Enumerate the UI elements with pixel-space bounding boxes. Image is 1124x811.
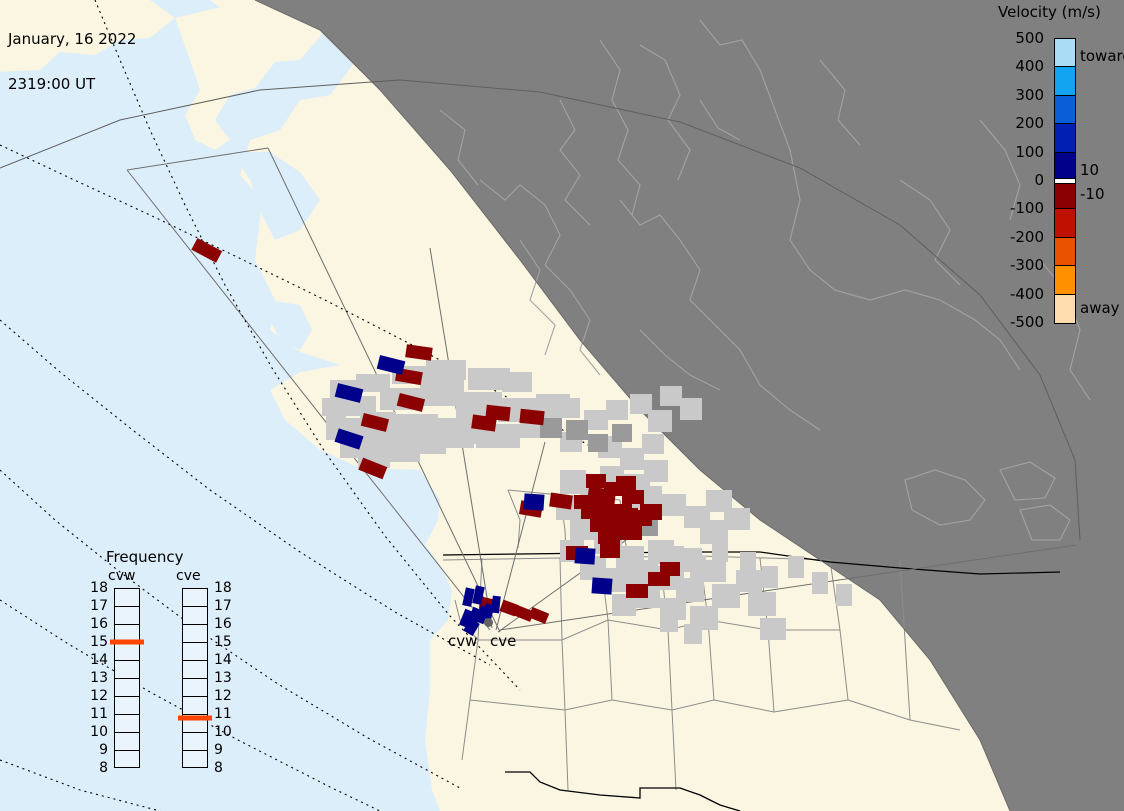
velocity-tick-label: 400 [1015, 57, 1044, 75]
frequency-bar-segment [183, 733, 207, 751]
frequency-bar-segment [183, 697, 207, 715]
frequency-scale-label: 15 [86, 634, 108, 650]
velocity-colorbar-segment [1055, 124, 1075, 152]
frequency-scale-label: 13 [214, 670, 232, 686]
frequency-marker-cve [178, 715, 212, 720]
frequency-bar-segment [115, 715, 139, 733]
frequency-column-label-cve: cve [176, 568, 201, 584]
velocity-negative-threshold-label: -10 [1080, 185, 1105, 203]
velocity-tick-label: -400 [1010, 285, 1044, 303]
velocity-tick-label: -200 [1010, 228, 1044, 246]
frequency-scale-label: 14 [214, 652, 232, 668]
velocity-tick-label: -100 [1010, 199, 1044, 217]
velocity-away-label: away [1080, 299, 1120, 317]
frequency-bar-segment [115, 679, 139, 697]
frequency-bar-cvw[interactable] [114, 588, 140, 768]
frequency-bar-segment [115, 589, 139, 607]
frequency-bar-segment [115, 697, 139, 715]
frequency-scale-label: 12 [214, 688, 232, 704]
frequency-scale-label: 13 [86, 670, 108, 686]
frequency-bar-segment [115, 733, 139, 751]
velocity-tick-label: 500 [1015, 29, 1044, 47]
frequency-bar-segment [115, 607, 139, 625]
site-label-cvw: cvw [448, 632, 477, 650]
frequency-scale-label: 11 [214, 706, 232, 722]
velocity-tick-label: 200 [1015, 114, 1044, 132]
frequency-bar-segment [183, 589, 207, 607]
frequency-legend-title: Frequency [106, 548, 184, 566]
velocity-tick-label: 300 [1015, 86, 1044, 104]
frequency-bar-segment [115, 751, 139, 769]
velocity-colorbar-segment [1055, 295, 1075, 323]
velocity-tick-label: -300 [1010, 256, 1044, 274]
frequency-scale-label: 8 [214, 760, 223, 776]
velocity-toward-label: toward [1080, 47, 1124, 65]
frequency-scale-label: 16 [214, 616, 232, 632]
velocity-legend-title: Velocity (m/s) [998, 3, 1101, 21]
timestamp-date: January, 16 2022 [8, 32, 136, 47]
velocity-tick-label: 0 [1034, 171, 1044, 189]
frequency-scale-label: 11 [86, 706, 108, 722]
frequency-scale-label: 8 [86, 760, 108, 776]
frequency-scale-label: 9 [86, 742, 108, 758]
frequency-scale-label: 16 [86, 616, 108, 632]
frequency-bar-segment [183, 679, 207, 697]
frequency-scale-label: 17 [214, 598, 232, 614]
velocity-colorbar-segment [1055, 209, 1075, 237]
frequency-scale-label: 10 [214, 724, 232, 740]
frequency-bar-segment [183, 643, 207, 661]
frequency-bar-segment [183, 751, 207, 769]
frequency-bar-segment [115, 643, 139, 661]
site-label-cve: cve [490, 632, 516, 650]
velocity-colorbar-segment [1055, 67, 1075, 95]
frequency-scale-label: 14 [86, 652, 108, 668]
velocity-zero-band [1055, 178, 1075, 184]
velocity-tick-label: 100 [1015, 143, 1044, 161]
timestamp-block: January, 16 2022 2319:00 UT [8, 2, 136, 122]
frequency-bar-segment [183, 607, 207, 625]
frequency-scale-label: 10 [86, 724, 108, 740]
frequency-bar-segment [183, 625, 207, 643]
frequency-scale-label: 9 [214, 742, 223, 758]
frequency-scale-label: 18 [214, 580, 232, 596]
velocity-colorbar-segment [1055, 96, 1075, 124]
velocity-positive-threshold-label: 10 [1080, 161, 1099, 179]
frequency-marker-cvw [110, 640, 144, 645]
radar-site-dot [484, 618, 493, 627]
velocity-colorbar[interactable] [1054, 38, 1076, 324]
velocity-colorbar-segment [1055, 266, 1075, 294]
superdarn-fan-plot: January, 16 2022 2319:00 UT Velocity (m/… [0, 0, 1124, 811]
velocity-colorbar-segment [1055, 39, 1075, 67]
frequency-scale-label: 18 [86, 580, 108, 596]
frequency-bar-segment [115, 661, 139, 679]
velocity-colorbar-segment [1055, 181, 1075, 209]
timestamp-time: 2319:00 UT [8, 77, 136, 92]
velocity-colorbar-segment [1055, 238, 1075, 266]
frequency-scale-label: 17 [86, 598, 108, 614]
frequency-scale-label: 15 [214, 634, 232, 650]
frequency-column-label-cvw: cvw [108, 568, 135, 584]
frequency-bar-cve[interactable] [182, 588, 208, 768]
frequency-scale-label: 12 [86, 688, 108, 704]
velocity-colorbar-segment [1055, 153, 1075, 181]
frequency-legend: Frequency cvw18171615141312111098cve1817… [86, 548, 242, 776]
velocity-legend: Velocity (m/s) 5004003002001000-100-200-… [986, 2, 1124, 332]
velocity-tick-labels: 5004003002001000-100-200-300-400-500 [986, 38, 1048, 324]
frequency-bar-segment [183, 661, 207, 679]
velocity-tick-label: -500 [1010, 313, 1044, 331]
